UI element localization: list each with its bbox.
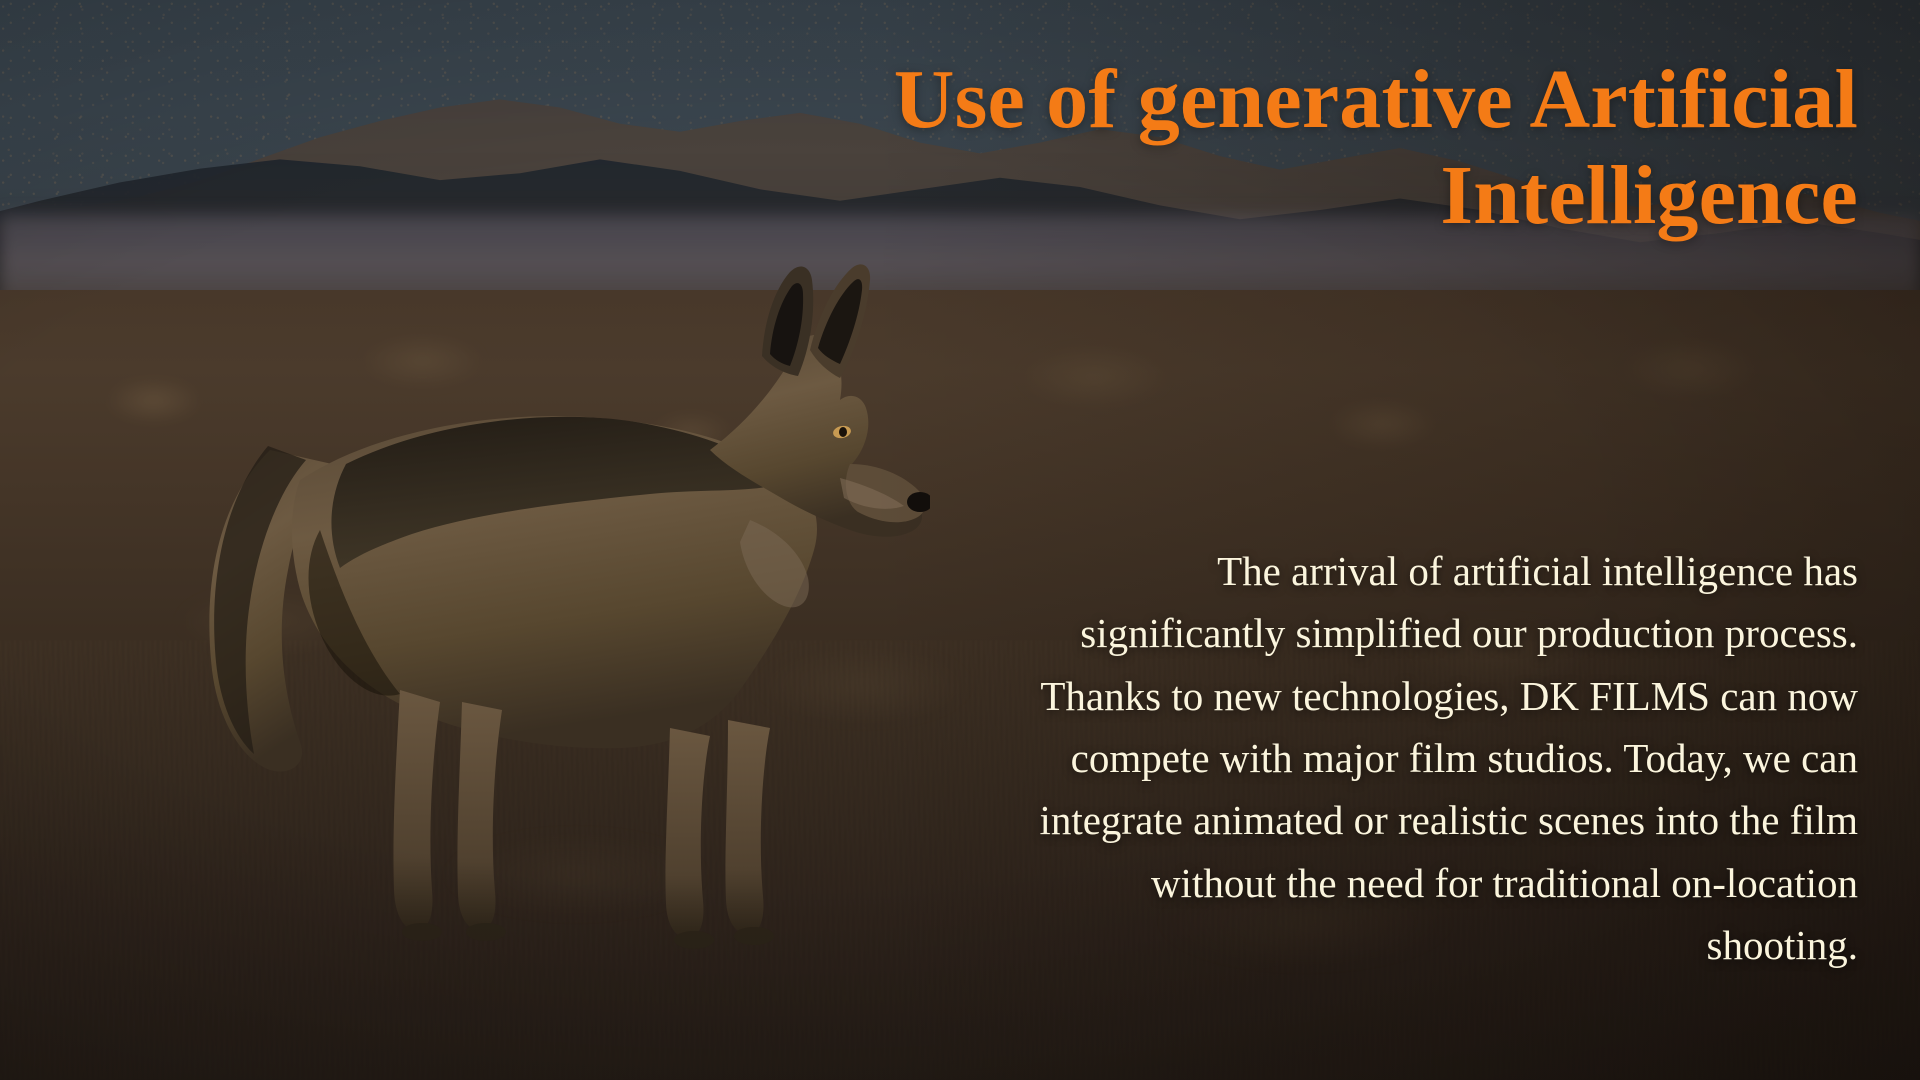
presentation-slide: Use of generative Artificial Intelligenc… <box>0 0 1920 1080</box>
slide-title: Use of generative Artificial Intelligenc… <box>628 52 1858 244</box>
slide-body-paragraph: The arrival of artificial intelligence h… <box>1028 540 1858 976</box>
